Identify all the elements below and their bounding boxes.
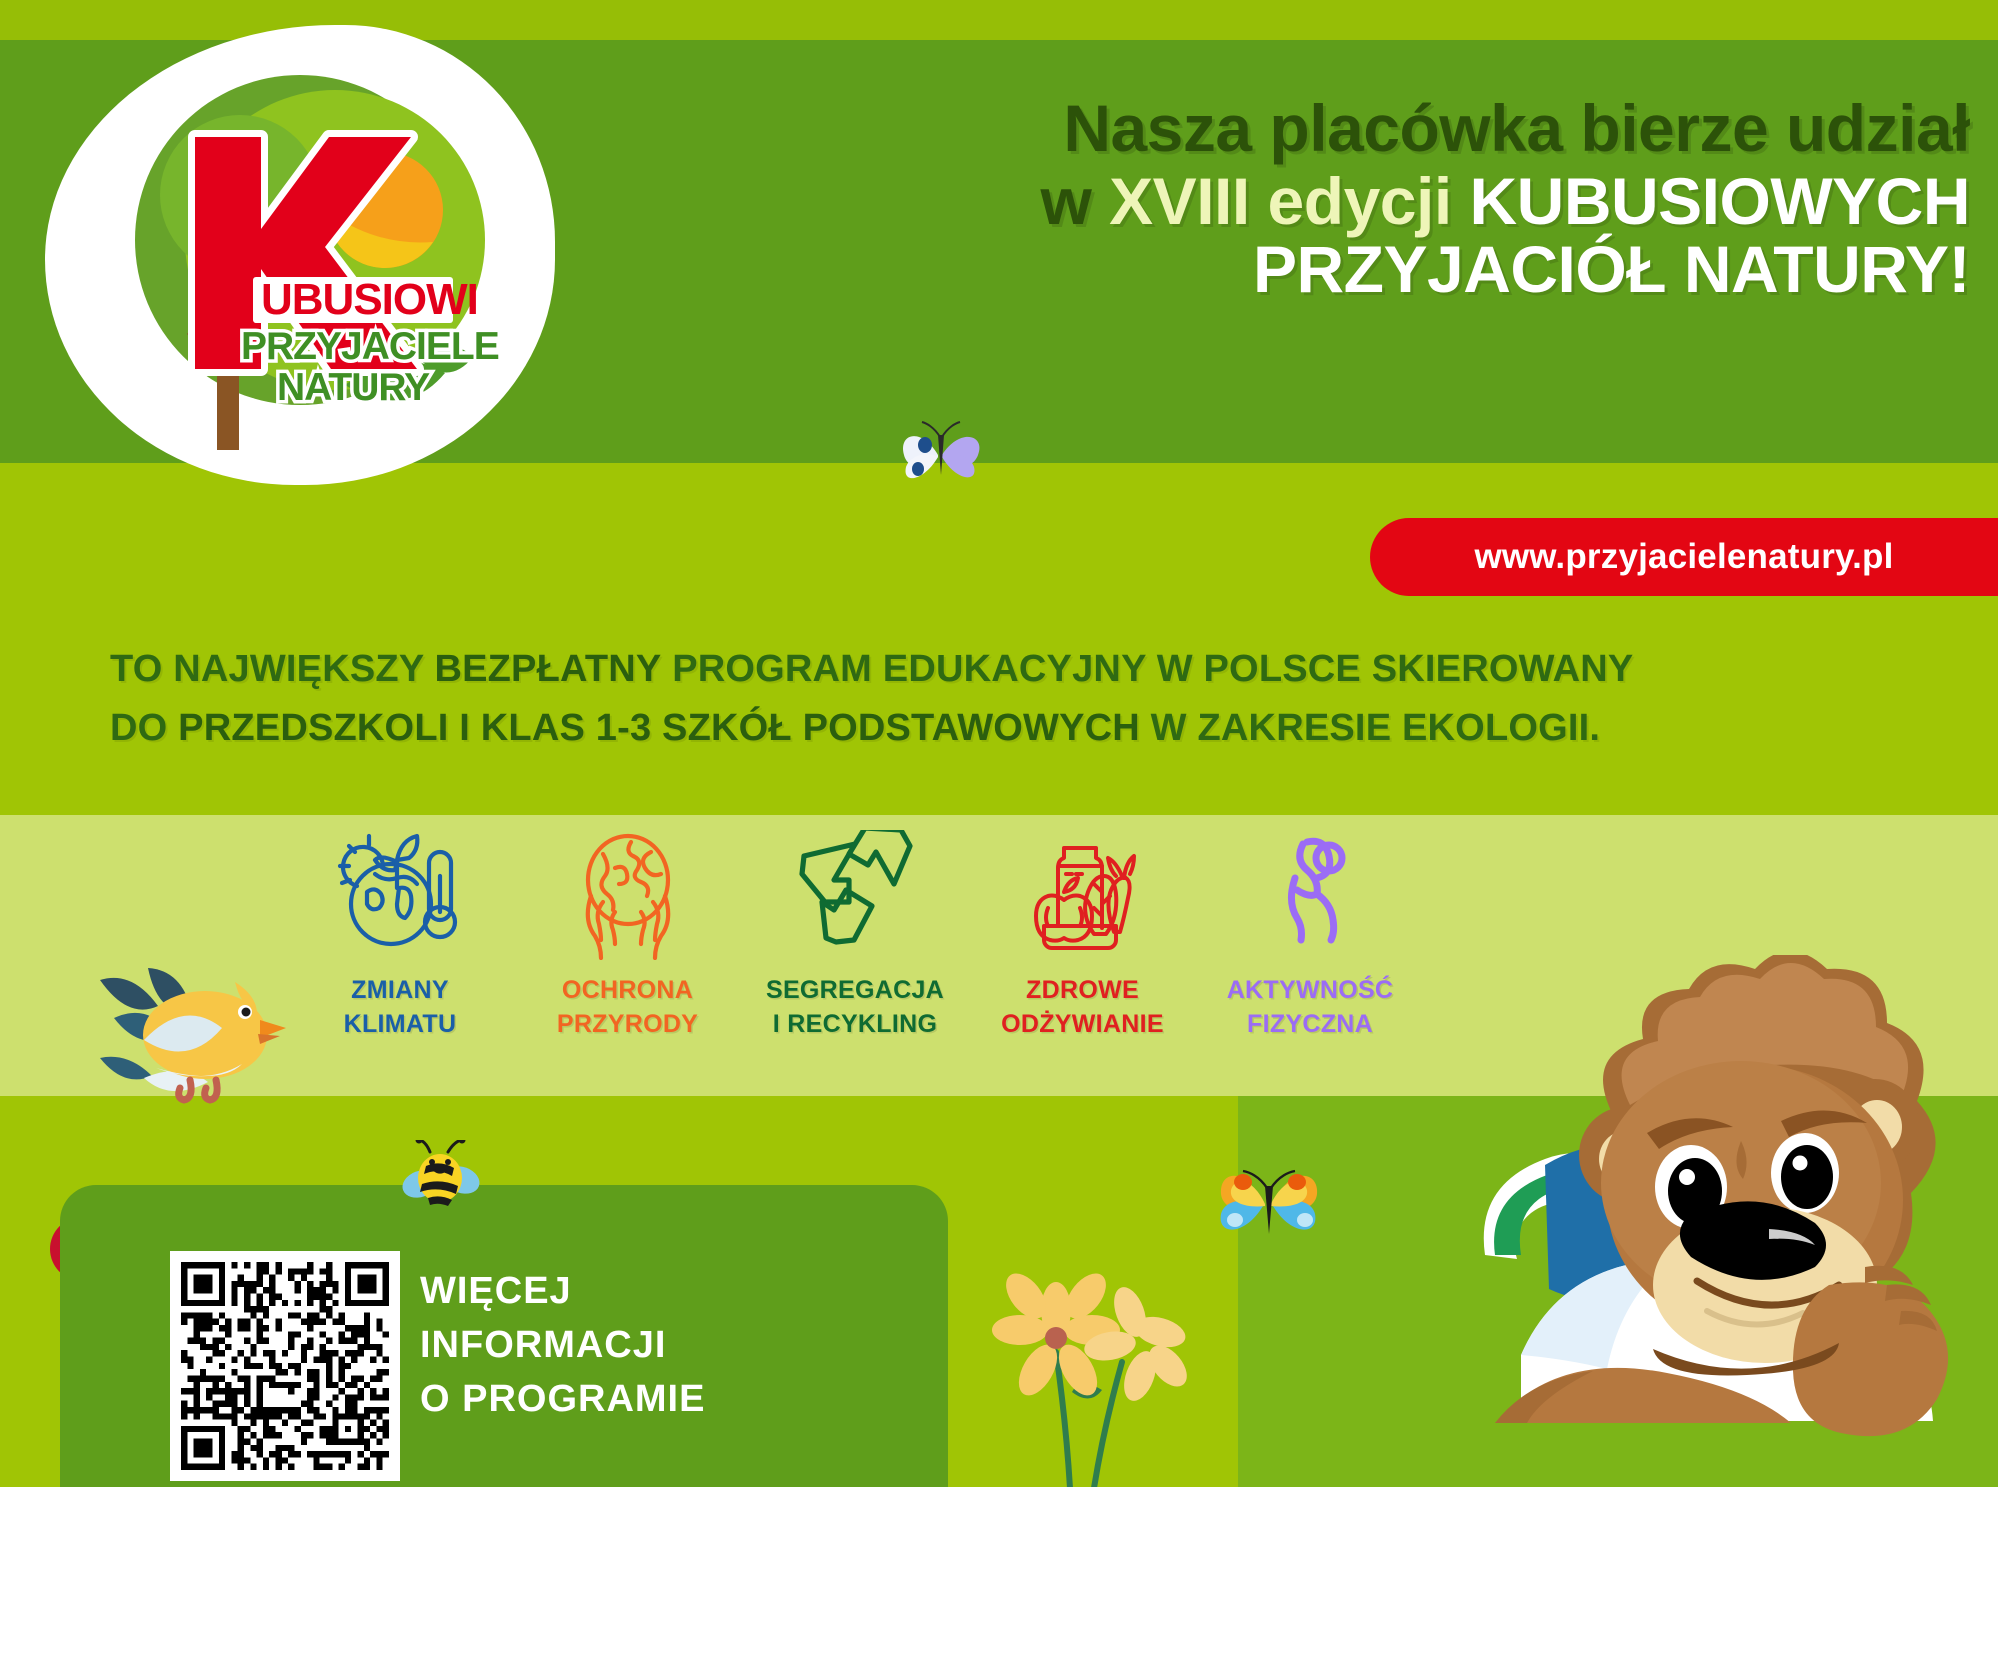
category-label-5-line2: FIZYCZNA	[1210, 1008, 1410, 1042]
category-label-2: OCHRONA PRZYRODY	[528, 974, 728, 1042]
headline-line-3: PRZYJACIÓŁ NATURY!	[540, 236, 1970, 303]
headline-line-2-part-1: w	[1040, 164, 1109, 238]
category-label-3: SEGREGACJA I RECYKLING	[755, 974, 955, 1042]
category-label-4: ZDROWE ODŻYWIANIE	[983, 974, 1183, 1042]
more-info-line-1: WIĘCEJ	[420, 1265, 900, 1319]
background-band-mid	[0, 463, 1998, 815]
category-label-3-line2: I RECYKLING	[755, 1008, 955, 1042]
program-description: TO NAJWIĘKSZY BEZPŁATNY PROGRAM EDUKACYJ…	[110, 640, 1910, 758]
category-zmiany-klimatu[interactable]: ZMIANY KLIMATU	[300, 830, 500, 1042]
headline-line-2-part-2: XVIII edycji	[1109, 164, 1469, 238]
category-zdrowe-odzywianie[interactable]: ZDROWE ODŻYWIANIE	[983, 830, 1183, 1042]
category-label-3-line1: SEGREGACJA	[755, 974, 955, 1008]
bear-mascot	[1425, 955, 1998, 1490]
more-info-text: WIĘCEJ INFORMACJI O PROGRAMIE	[420, 1265, 900, 1427]
climate-change-icon	[335, 830, 465, 960]
category-label-5-line1: AKTYWNOŚĆ	[1210, 974, 1410, 1008]
poster-root: UBUSIOWI PRZYJACIELE PRZYJACIELE NATURY …	[0, 0, 1998, 1675]
yellow-flowers-icon	[990, 1270, 1210, 1490]
category-label-2-line2: PRZYRODY	[528, 1008, 728, 1042]
category-label-1-line2: KLIMATU	[300, 1008, 500, 1042]
footer: ORGANIZATOR PROGRAMU: KUBUŚ ® PARTNER ME…	[0, 1487, 1998, 1675]
headline-line-2-part-3: KUBUSIOWYCH	[1470, 164, 1971, 238]
headline-line-2: w XVIII edycji KUBUSIOWYCH	[540, 168, 1970, 235]
category-segregacja-recykling[interactable]: SEGREGACJA I RECYKLING	[755, 830, 955, 1042]
physical-activity-icon	[1245, 830, 1375, 960]
qr-code[interactable]	[170, 1251, 400, 1481]
svg-text:NATURY: NATURY	[277, 366, 430, 409]
svg-text:PRZYJACIELE: PRZYJACIELE	[241, 325, 499, 368]
description-line-1-a: TO NAJWIĘKSZY	[110, 648, 434, 690]
bee-icon	[400, 1140, 490, 1220]
category-label-4-line2: ODŻYWIANIE	[983, 1008, 1183, 1042]
website-url-banner[interactable]: www.przyjacielenatury.pl	[1370, 518, 1998, 596]
category-ochrona-przyrody[interactable]: OCHRONA PRZYRODY	[528, 830, 728, 1042]
category-label-1-line1: ZMIANY	[300, 974, 500, 1008]
description-line-2-c: W ZAKRESIE EKOLOGII.	[1140, 707, 1600, 749]
more-info-line-2: INFORMACJI	[420, 1319, 900, 1373]
description-line-1-c: PROGRAM EDUKACYJNY W POLSCE SKIEROWANY	[661, 648, 1633, 690]
category-label-2-line1: OCHRONA	[528, 974, 728, 1008]
description-line-2-b: PRZEDSZKOLI I KLAS 1-3 SZKÓŁ PODSTAWOWYC…	[178, 707, 1140, 749]
kubusiowi-przyjaciele-natury-logo: UBUSIOWI PRZYJACIELE PRZYJACIELE NATURY …	[45, 25, 555, 485]
nature-protection-icon	[563, 830, 693, 960]
header-headline: Nasza placówka bierze udział w XVIII edy…	[540, 95, 1970, 303]
category-label-5: AKTYWNOŚĆ FIZYCZNA	[1210, 974, 1410, 1042]
category-label-4-line1: ZDROWE	[983, 974, 1183, 1008]
butterfly-purple-icon	[890, 415, 1000, 495]
more-info-line-3: O PROGRAMIE	[420, 1373, 900, 1427]
category-aktywnosc-fizyczna[interactable]: AKTYWNOŚĆ FIZYCZNA	[1210, 830, 1410, 1042]
svg-text:UBUSIOWI: UBUSIOWI	[261, 275, 478, 324]
headline-line-1: Nasza placówka bierze udział	[540, 95, 1970, 162]
qr-code-image	[181, 1262, 389, 1470]
description-line-1: TO NAJWIĘKSZY BEZPŁATNY PROGRAM EDUKACYJ…	[110, 640, 1910, 699]
healthy-eating-icon	[1018, 830, 1148, 960]
bird-icon	[70, 940, 300, 1110]
category-label-1: ZMIANY KLIMATU	[300, 974, 500, 1042]
description-line-1-b: BEZPŁATNY	[434, 648, 661, 690]
category-icon-row: ZMIANY KLIMATU OCHRONA PRZYRODY	[300, 830, 1410, 1080]
description-line-2-a: DO	[110, 707, 178, 749]
butterfly-orange-icon	[1205, 1150, 1335, 1265]
recycling-icon	[790, 830, 920, 960]
description-line-2: DO PRZEDSZKOLI I KLAS 1-3 SZKÓŁ PODSTAWO…	[110, 699, 1910, 758]
